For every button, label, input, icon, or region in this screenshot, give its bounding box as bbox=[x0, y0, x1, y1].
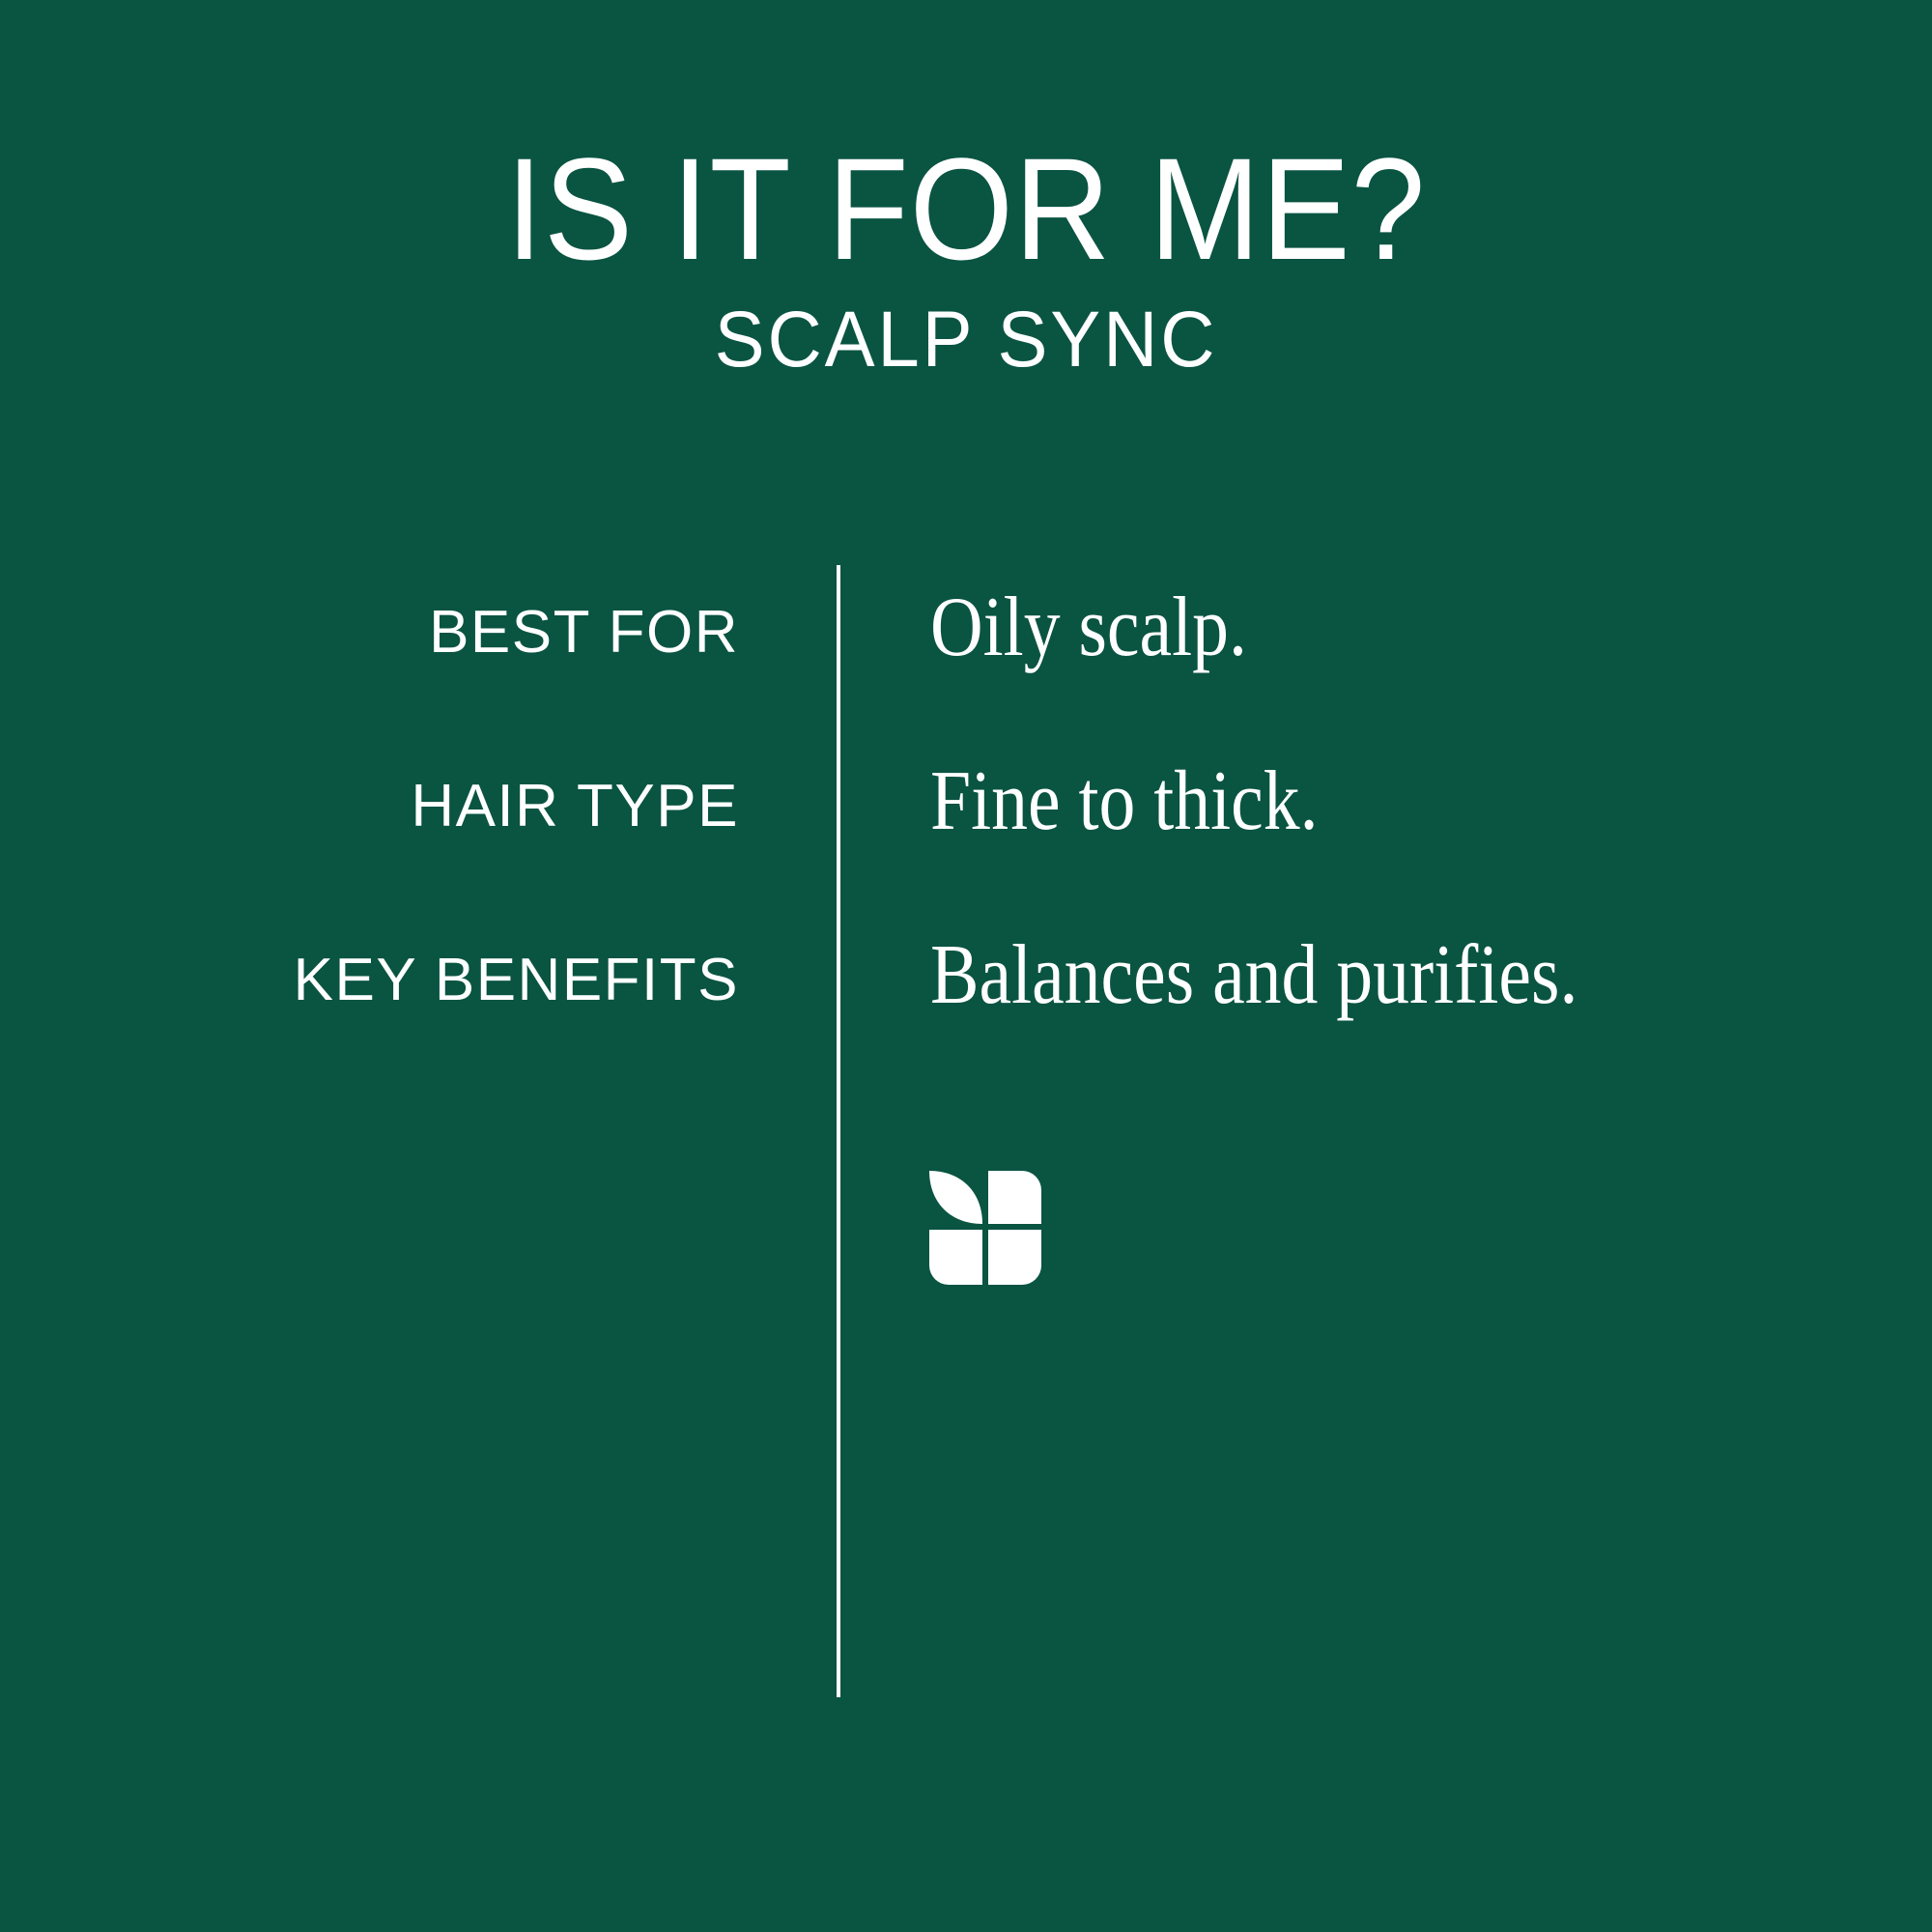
page-title: IS IT FOR ME? bbox=[77, 135, 1855, 283]
table-row: HAIR TYPE Fine to thick. bbox=[0, 777, 1932, 951]
leaf-quadrant-logo-icon bbox=[929, 1171, 1041, 1285]
spec-value-hair-type: Fine to thick. bbox=[930, 759, 1318, 844]
spec-label-key-benefits: KEY BENEFITS bbox=[0, 951, 739, 1010]
spec-value-best-for: Oily scalp. bbox=[930, 585, 1247, 670]
table-row: KEY BENEFITS Balances and purifies. bbox=[0, 951, 1932, 1124]
page-subtitle: SCALP SYNC bbox=[48, 297, 1884, 384]
table-row: BEST FOR Oily scalp. bbox=[0, 603, 1932, 777]
spec-label-hair-type: HAIR TYPE bbox=[0, 777, 739, 837]
spec-table: BEST FOR Oily scalp. HAIR TYPE Fine to t… bbox=[0, 603, 1932, 1124]
product-spec-card: IS IT FOR ME? SCALP SYNC BEST FOR Oily s… bbox=[0, 0, 1932, 1932]
header: IS IT FOR ME? SCALP SYNC bbox=[0, 135, 1932, 384]
spec-value-key-benefits: Balances and purifies. bbox=[930, 933, 1577, 1018]
spec-label-best-for: BEST FOR bbox=[0, 603, 739, 663]
